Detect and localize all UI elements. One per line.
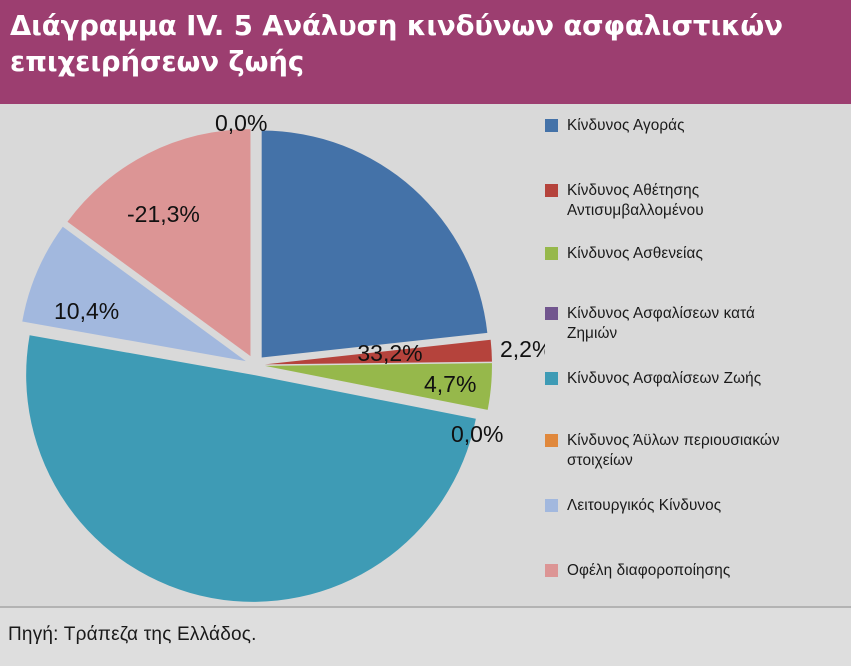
- slice-label-operational-risk: 10,4%: [54, 298, 119, 324]
- slice-label-intangible-risk: 0,0%: [215, 110, 267, 136]
- legend-swatch-counterparty-risk: [545, 184, 558, 197]
- slice-label-health-risk: 4,7%: [424, 371, 476, 397]
- slice-label-counterparty-risk: 2,2%: [500, 336, 545, 362]
- source-note: Πηγή: Τράπεζα της Ελλάδος.: [8, 624, 257, 646]
- chart-title-band: Διάγραμμα IV. 5 Ανάλυση κινδύνων ασφαλισ…: [0, 0, 851, 104]
- legend-label-non-life-risk: Κίνδυνος Ασφαλίσεων κατά Ζημιών: [567, 304, 755, 344]
- legend-label-operational-risk: Λειτουργικός Κίνδυνος: [567, 496, 721, 516]
- pie-chart: 33,2% 2,2% 4,7% 0,0% 70,9% 0,0% 10,4% -2…: [0, 104, 545, 606]
- legend-label-diversification-benefit: Οφέλη διαφοροποίησης: [567, 561, 730, 581]
- legend-item-health-risk[interactable]: Κίνδυνος Ασθενείας: [545, 244, 845, 264]
- legend-item-life-risk[interactable]: Κίνδυνος Ασφαλίσεων Ζωής: [545, 369, 845, 389]
- legend-swatch-non-life-risk: [545, 307, 558, 320]
- legend-swatch-health-risk: [545, 247, 558, 260]
- legend-swatch-market-risk: [545, 119, 558, 132]
- legend-swatch-operational-risk: [545, 499, 558, 512]
- legend-label-intangible-risk: Κίνδυνος Άϋλων περιουσιακών στοιχείων: [567, 431, 780, 471]
- chart-page: Διάγραμμα IV. 5 Ανάλυση κινδύνων ασφαλισ…: [0, 0, 851, 666]
- slice-label-market-risk: 33,2%: [357, 340, 422, 366]
- chart-legend: Κίνδυνος Αγοράς Κίνδυνος Αθέτησης Αντισυ…: [545, 104, 851, 606]
- legend-swatch-life-risk: [545, 372, 558, 385]
- chart-footer: Πηγή: Τράπεζα της Ελλάδος.: [0, 606, 851, 666]
- legend-item-intangible-risk[interactable]: Κίνδυνος Άϋλων περιουσιακών στοιχείων: [545, 431, 845, 471]
- legend-item-counterparty-risk[interactable]: Κίνδυνος Αθέτησης Αντισυμβαλλομένου: [545, 181, 845, 221]
- legend-swatch-intangible-risk: [545, 434, 558, 447]
- plot-area: 33,2% 2,2% 4,7% 0,0% 70,9% 0,0% 10,4% -2…: [0, 104, 851, 606]
- legend-item-market-risk[interactable]: Κίνδυνος Αγοράς: [545, 116, 845, 136]
- legend-item-non-life-risk[interactable]: Κίνδυνος Ασφαλίσεων κατά Ζημιών: [545, 304, 845, 344]
- pie-slice[interactable]: [262, 131, 488, 358]
- legend-item-diversification-benefit[interactable]: Οφέλη διαφοροποίησης: [545, 561, 845, 581]
- legend-label-health-risk: Κίνδυνος Ασθενείας: [567, 244, 703, 264]
- slice-label-diversification-benefit: -21,3%: [127, 201, 200, 227]
- legend-item-operational-risk[interactable]: Λειτουργικός Κίνδυνος: [545, 496, 845, 516]
- slice-label-non-life-risk: 0,0%: [451, 421, 503, 447]
- legend-label-counterparty-risk: Κίνδυνος Αθέτησης Αντισυμβαλλομένου: [567, 181, 704, 221]
- page-title: Διάγραμμα IV. 5 Ανάλυση κινδύνων ασφαλισ…: [10, 9, 837, 81]
- legend-label-life-risk: Κίνδυνος Ασφαλίσεων Ζωής: [567, 369, 761, 389]
- legend-label-market-risk: Κίνδυνος Αγοράς: [567, 116, 685, 136]
- legend-swatch-diversification-benefit: [545, 564, 558, 577]
